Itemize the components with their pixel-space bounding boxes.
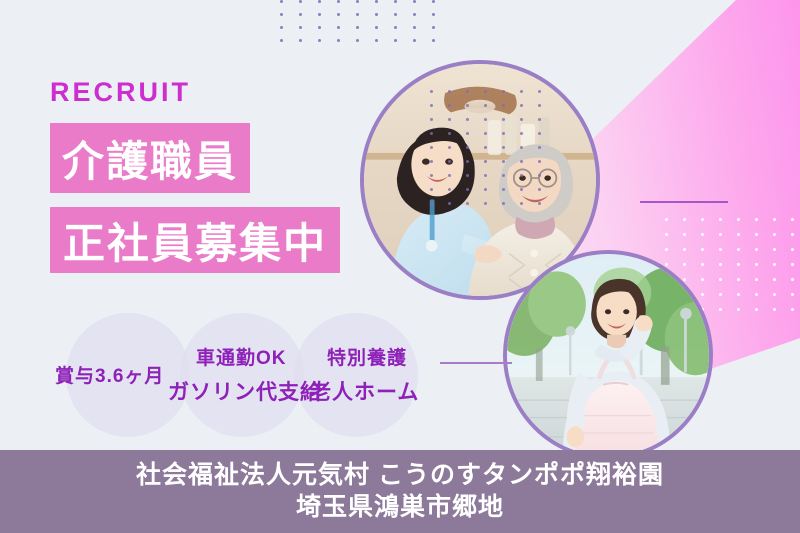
badge-employment-status: 正社員募集中 [50,207,340,273]
badge-job-title: 介護職員 [50,123,250,193]
footer-band: 社会福祉法人元気村 こうのすタンポポ翔裕園 埼玉県鴻巣市郷地 [0,450,800,533]
photo-nurse-inner [507,254,709,456]
benefit-label-1: 賞与3.6ヶ月 [55,366,164,388]
connector-line [440,362,512,364]
photo-nurse-art [507,254,709,456]
benefit-label-3b: 老人ホーム [310,381,419,406]
benefit-circle-3 [294,313,418,437]
accent-line-right [640,201,728,203]
benefit-label-2b: ガソリン代支給 [168,381,322,406]
photo-nurse-on-street [503,250,713,460]
footer-organization: 社会福祉法人元気村 こうのすタンポポ翔裕園 [136,460,664,491]
eyebrow-recruit: RECRUIT [50,79,191,106]
purple-dot-grid-top [280,0,445,50]
recruitment-banner: RECRUIT 介護職員 正社員募集中 [0,0,800,533]
footer-address: 埼玉県鴻巣市郷地 [296,492,504,523]
benefit-circle-2 [180,313,304,437]
benefit-label-2a: 車通勤OK [196,348,287,370]
benefit-label-3a: 特別養護 [327,348,407,370]
